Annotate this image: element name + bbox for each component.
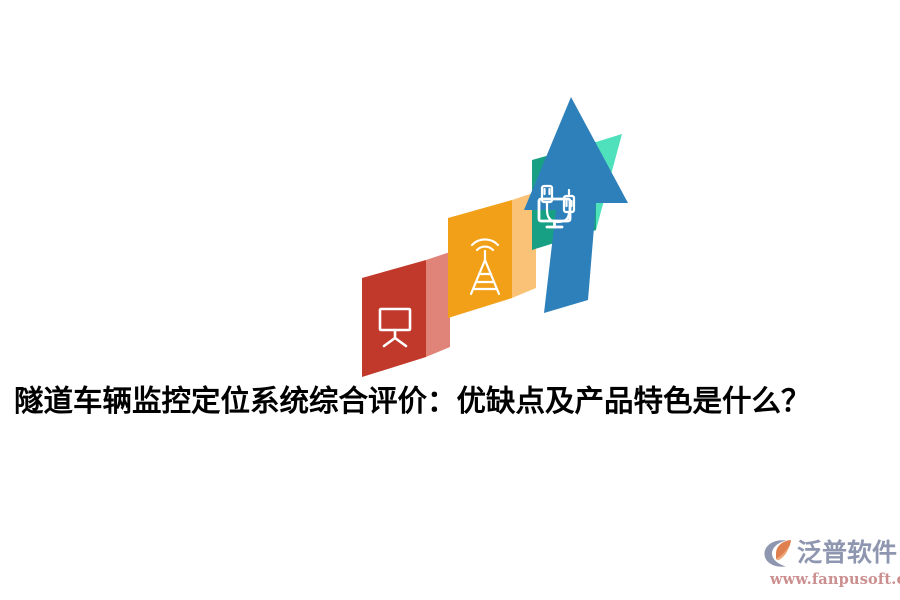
segment-red-face (362, 260, 426, 377)
growth-arrow-illustration (340, 70, 630, 390)
segment-orange-face (448, 200, 512, 318)
brand-logo: 泛普软件 www.fanpusoft.com (762, 536, 896, 588)
brand-url: www.fanpusoft.com (770, 571, 900, 588)
brand-name: 泛普软件 (797, 537, 897, 569)
brand-logo-row: 泛普软件 (762, 536, 897, 570)
page-root: 隧道车辆监控定位系统综合评价：优缺点及产品特色是什么？ 泛普软件 www.fan… (0, 0, 900, 600)
fanpu-c-swoosh-logo-icon (762, 537, 796, 569)
segment-red-fold (426, 252, 450, 357)
page-title: 隧道车辆监控定位系统综合评价：优缺点及产品特色是什么？ (14, 381, 886, 421)
